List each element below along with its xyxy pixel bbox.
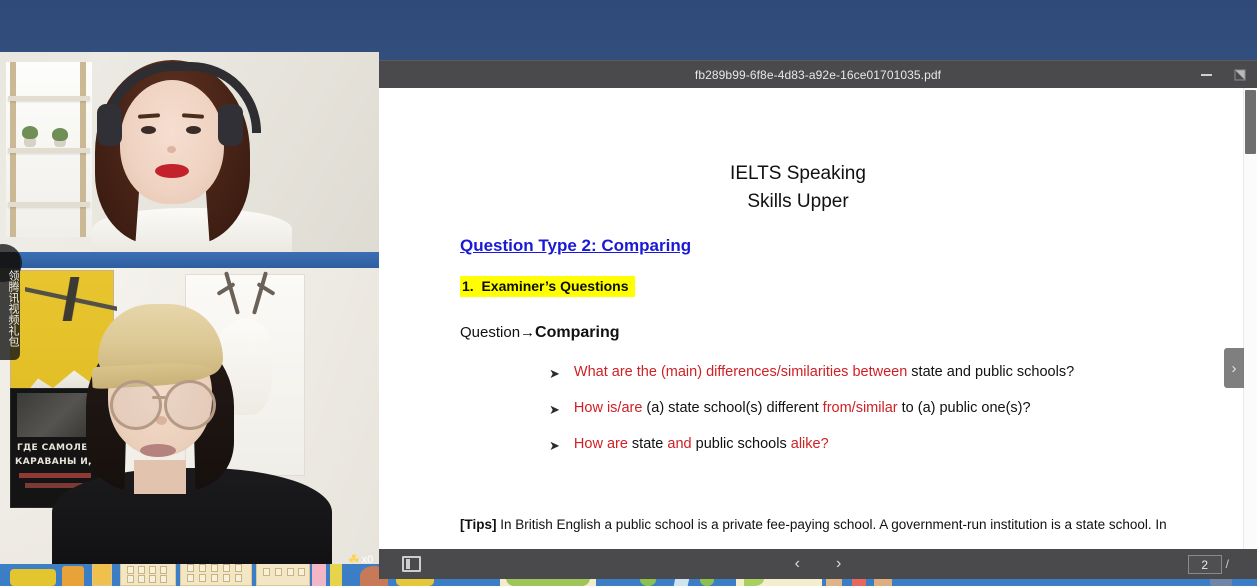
sidebar-toggle-icon[interactable] [402, 556, 421, 572]
next-page-button[interactable]: › [836, 556, 841, 572]
document-heading-line2: Skills Upper [379, 188, 1217, 216]
pdf-page-viewport[interactable]: IELTS Speaking Skills Upper Question Typ… [379, 88, 1257, 549]
bullet-text: What are the (main) differences/similari… [574, 364, 1074, 380]
tips-line1: In British English a public school is a … [497, 517, 1106, 532]
wallpaper-building [256, 562, 310, 586]
headphone-cup-right [218, 104, 243, 146]
list-item: ➤ How is/are (a) state school(s) differe… [549, 400, 1217, 419]
question-topic: Comparing [535, 324, 619, 341]
maximize-icon [1234, 69, 1246, 81]
poster-text-line1: ГДЕ САМОЛЕТ [17, 443, 94, 453]
scrollbar-thumb[interactable] [1245, 90, 1256, 154]
minimize-icon [1201, 74, 1212, 76]
question-label: Question [460, 324, 520, 341]
plane-illustration [25, 277, 117, 321]
shelf-decor [6, 62, 92, 237]
tips-paragraph: [Tips] In British English a public schoo… [460, 509, 1170, 549]
pdf-page-content: IELTS Speaking Skills Upper Question Typ… [379, 88, 1217, 549]
video-tile-bottom[interactable]: ГДЕ САМОЛЕТ КАРАВАНЫ ИДУТ [0, 268, 379, 564]
question-type-heading: Question Type 2: Comparing [460, 236, 1217, 256]
participant-bottom-shirt [52, 468, 332, 564]
question-topic-line: Question→Comparing [460, 324, 1217, 342]
question-bullet-list: ➤ What are the (main) differences/simila… [549, 364, 1217, 455]
document-heading: IELTS Speaking Skills Upper [379, 160, 1217, 216]
minimize-button[interactable] [1195, 64, 1217, 86]
headphone-cup-left [97, 104, 122, 146]
previous-page-button[interactable]: ‹ [795, 556, 800, 572]
promo-tab[interactable]: 领腾讯视频礼包 [0, 252, 20, 360]
list-item: ➤ How are state and public schools alike… [549, 436, 1217, 455]
gift-count-label: x0 [362, 554, 374, 566]
page-indicator: 2 / [1188, 555, 1229, 574]
pdf-bottom-toolbar: ‹ › 2 / [379, 549, 1257, 579]
list-item: ➤ What are the (main) differences/simila… [549, 364, 1217, 383]
glasses-bridge [152, 396, 166, 399]
pdf-titlebar[interactable]: fb289b99-6f8e-4d83-a92e-16ce01701035.pdf [379, 60, 1257, 88]
participant-bottom-neck [134, 460, 186, 494]
section-number: 1. [462, 278, 474, 294]
wallpaper-shape [10, 569, 56, 586]
wallpaper-shape [62, 566, 84, 586]
vertical-scrollbar[interactable] [1243, 88, 1257, 549]
bullet-text: How is/are (a) state school(s) different… [574, 400, 1031, 416]
examiner-questions-row: 1. Examiner’s Questions [460, 278, 1217, 296]
tips-label: [Tips] [460, 517, 497, 532]
participant-bottom-lips [140, 444, 176, 457]
pdf-viewer-window: fb289b99-6f8e-4d83-a92e-16ce01701035.pdf… [379, 60, 1257, 578]
page-separator: / [1226, 557, 1229, 571]
glasses-lens-left [110, 380, 162, 430]
wallpaper-shape [330, 562, 342, 586]
document-heading-line1: IELTS Speaking [379, 160, 1217, 188]
window-title: fb289b99-6f8e-4d83-a92e-16ce01701035.pdf [695, 68, 941, 82]
maximize-button[interactable] [1229, 64, 1251, 86]
bullet-arrow-icon: ➤ [549, 400, 560, 419]
screen: nca ГДЕ САМОЛЕТ КАРАВАНЫ ИДУТ [0, 0, 1257, 586]
section-title: Examiner’s Questions [481, 278, 628, 294]
video-tile-divider [0, 252, 379, 268]
bullet-text: How are state and public schools alike? [574, 436, 829, 452]
video-call-panel: nca ГДЕ САМОЛЕТ КАРАВАНЫ ИДУТ [0, 52, 379, 564]
question-arrow-icon: → [520, 324, 535, 341]
glasses-lens-right [164, 380, 216, 430]
window-controls [1195, 61, 1251, 88]
wallpaper-shape [506, 578, 590, 586]
video-tile-top[interactable]: nca [0, 52, 379, 252]
page-navigation-group: ‹ › [379, 556, 1257, 572]
gift-icon: ☘ [348, 553, 360, 566]
next-page-tab[interactable]: › [1224, 348, 1244, 388]
bullet-arrow-icon: ➤ [549, 364, 560, 383]
wallpaper-shape [92, 562, 112, 586]
examiner-questions-highlight: 1. Examiner’s Questions [460, 276, 635, 297]
wallpaper-shape [312, 562, 326, 586]
bullet-arrow-icon: ➤ [549, 436, 560, 455]
gift-counter[interactable]: ☘ x0 [348, 553, 373, 566]
page-number-input[interactable]: 2 [1188, 555, 1222, 574]
